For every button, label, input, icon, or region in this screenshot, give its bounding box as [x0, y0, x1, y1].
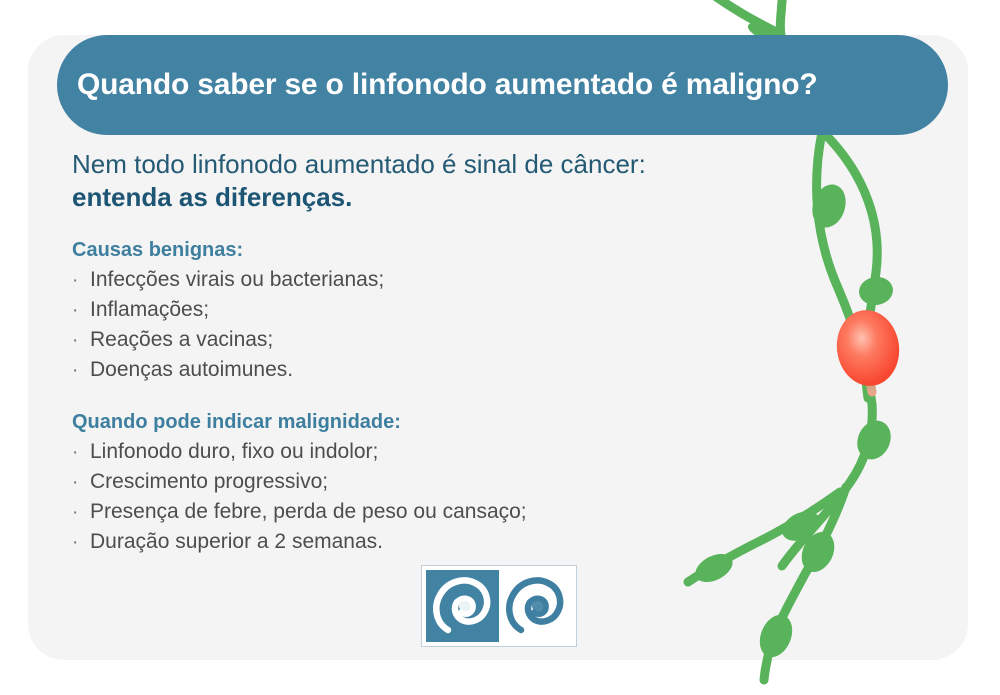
clinic-logo — [421, 565, 577, 647]
bullet-icon: · — [72, 440, 90, 467]
list-item: · Linfonodo duro, fixo ou indolor; — [72, 437, 712, 467]
logo-panel-dark — [426, 570, 499, 642]
bullet-icon: · — [72, 530, 90, 557]
list-item-label: Duração superior a 2 semanas. — [90, 527, 383, 557]
bullet-icon: · — [72, 268, 90, 295]
bullet-icon: · — [72, 358, 90, 385]
list-item-label: Inflamações; — [90, 295, 209, 325]
list-item-label: Doenças autoimunes. — [90, 355, 293, 385]
bullet-icon: · — [72, 298, 90, 325]
section-benign-causes: Causas benignas: · Infecções virais ou b… — [72, 239, 712, 385]
subtitle-line-1: Nem todo linfonodo aumentado é sinal de … — [72, 148, 712, 181]
list-item: · Crescimento progressivo; — [72, 467, 712, 497]
list-item: · Infecções virais ou bacterianas; — [72, 265, 712, 295]
bullet-icon: · — [72, 328, 90, 355]
section-heading: Quando pode indicar malignidade: — [72, 411, 712, 434]
main-content: Nem todo linfonodo aumentado é sinal de … — [72, 148, 712, 557]
subtitle-line-2: entenda as diferenças. — [72, 181, 712, 214]
list-item: · Presença de febre, perda de peso ou ca… — [72, 497, 712, 527]
logo-panel-light — [499, 570, 572, 642]
list-item: · Duração superior a 2 semanas. — [72, 527, 712, 557]
list-item: · Doenças autoimunes. — [72, 355, 712, 385]
section-heading: Causas benignas: — [72, 239, 712, 262]
list-item-label: Crescimento progressivo; — [90, 467, 328, 497]
title-banner: Quando saber se o linfonodo aumentado é … — [57, 35, 948, 135]
list-item-label: Linfonodo duro, fixo ou indolor; — [90, 437, 378, 467]
list-item: · Inflamações; — [72, 295, 712, 325]
list-item: · Reações a vacinas; — [72, 325, 712, 355]
list-item-label: Presença de febre, perda de peso ou cans… — [90, 497, 527, 527]
page-title: Quando saber se o linfonodo aumentado é … — [77, 68, 817, 102]
subtitle-block: Nem todo linfonodo aumentado é sinal de … — [72, 148, 712, 213]
swirl-icon — [426, 570, 499, 642]
bullet-list: · Infecções virais ou bacterianas; · Inf… — [72, 265, 712, 385]
bullet-icon: · — [72, 500, 90, 527]
bullet-list: · Linfonodo duro, fixo ou indolor; · Cre… — [72, 437, 712, 557]
swirl-icon — [499, 570, 572, 642]
section-malignancy-signs: Quando pode indicar malignidade: · Linfo… — [72, 411, 712, 557]
list-item-label: Infecções virais ou bacterianas; — [90, 265, 384, 295]
bullet-icon: · — [72, 470, 90, 497]
list-item-label: Reações a vacinas; — [90, 325, 273, 355]
infographic-canvas: Quando saber se o linfonodo aumentado é … — [0, 0, 1000, 695]
